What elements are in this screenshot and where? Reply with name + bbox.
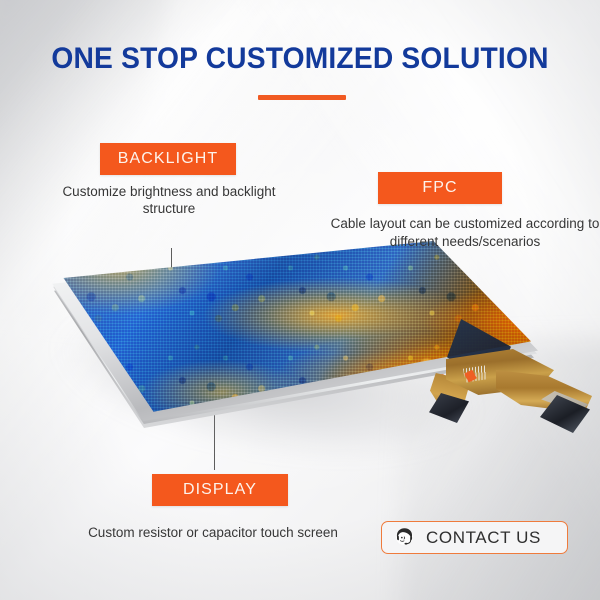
callout-caption-fpc: Cable layout can be customized according… [330,215,600,251]
callout-chip-fpc-label: FPC [422,179,457,197]
page-title: ONE STOP CUSTOMIZED SOLUTION [18,42,582,76]
callout-chip-backlight[interactable]: BACKLIGHT [100,143,236,175]
callout-caption-backlight: Customize brightness and backlight struc… [58,183,280,217]
contact-us-button[interactable]: CONTACT US [381,521,568,554]
callout-chip-display[interactable]: DISPLAY [152,474,288,506]
poster-canvas: ONE STOP CUSTOMIZED SOLUTION BACKLIGHT C… [0,0,600,600]
callout-caption-display: Custom resistor or capacitor touch scree… [48,524,378,541]
lcd-panel-illustration [0,245,600,515]
callout-chip-backlight-label: BACKLIGHT [118,150,219,168]
callout-chip-display-label: DISPLAY [183,481,257,499]
support-agent-icon [393,526,416,549]
title-underline-rule [258,95,346,100]
callout-chip-fpc[interactable]: FPC [378,172,502,204]
contact-us-label: CONTACT US [426,528,541,548]
